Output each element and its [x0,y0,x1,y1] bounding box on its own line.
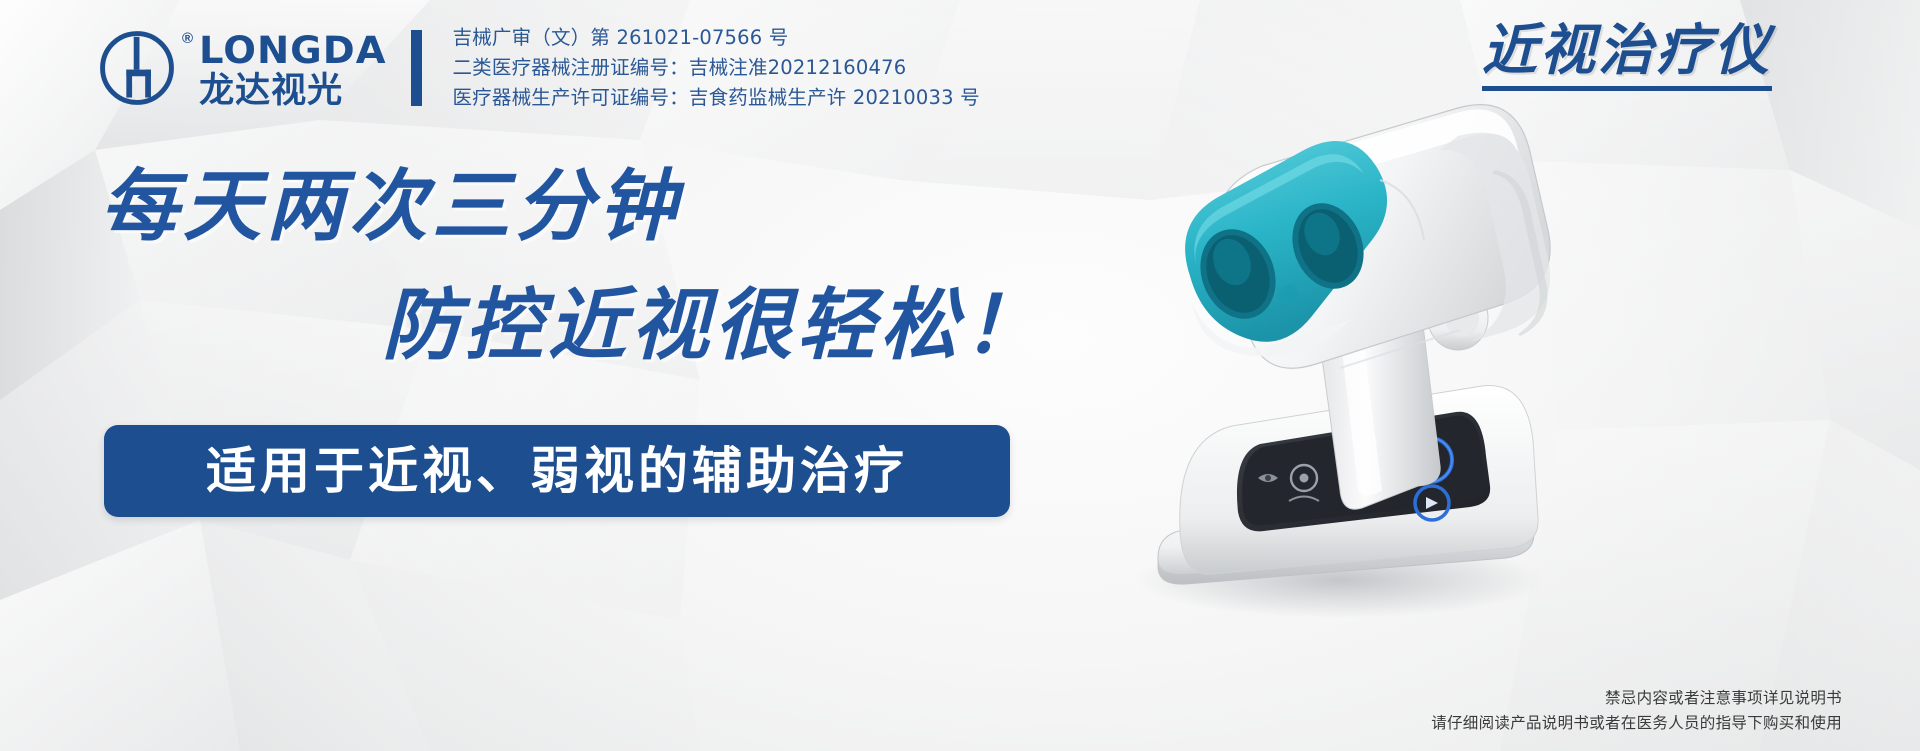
disclaimer-line-instructions: 请仔细阅读产品说明书或者在医务人员的指导下购买和使用 [1431,711,1842,737]
disclaimer-line-contraindications: 禁忌内容或者注意事项详见说明书 [1431,686,1842,712]
regulatory-line-production-license: 医疗器械生产许可证编号：吉食药监械生产许 20210033 号 [452,84,979,112]
headline-secondary: 防控近视很轻松！ [382,287,1046,365]
regulatory-line-registration: 二类医疗器械注册证编号：吉械注准20212160476 [452,54,979,82]
longda-circle-logo-icon [96,26,178,110]
brand-latin-name: LONGDA [199,32,387,69]
brand-chinese-name: 龙达视光 [199,72,379,111]
cta-banner[interactable]: 适用于近视、弱视的辅助治疗 [104,425,1010,517]
myopia-treatment-device-illustration [1040,60,1660,660]
cta-label: 适用于近视、弱视的辅助治疗 [206,446,908,496]
brand-logo[interactable]: ® LONGDA 龙达视光 [96,26,379,111]
advertising-banner: ® LONGDA 龙达视光 吉械广审（文）第 261021-07566 号 二类… [0,0,1920,751]
regulatory-info: 吉械广审（文）第 261021-07566 号 二类医疗器械注册证编号：吉械注准… [452,24,979,111]
brand-wordmark: LONGDA 龙达视光 [199,26,379,111]
product-image [1040,60,1660,660]
headline-primary: 每天两次三分钟 [100,168,681,246]
banner-header: ® LONGDA 龙达视光 吉械广审（文）第 261021-07566 号 二类… [96,22,980,114]
registered-mark: ® [182,30,193,47]
disclaimer-block: 禁忌内容或者注意事项详见说明书 请仔细阅读产品说明书或者在医务人员的指导下购买和… [1431,686,1842,737]
regulatory-line-ad-approval: 吉械广审（文）第 261021-07566 号 [452,24,979,52]
header-divider [411,30,422,106]
